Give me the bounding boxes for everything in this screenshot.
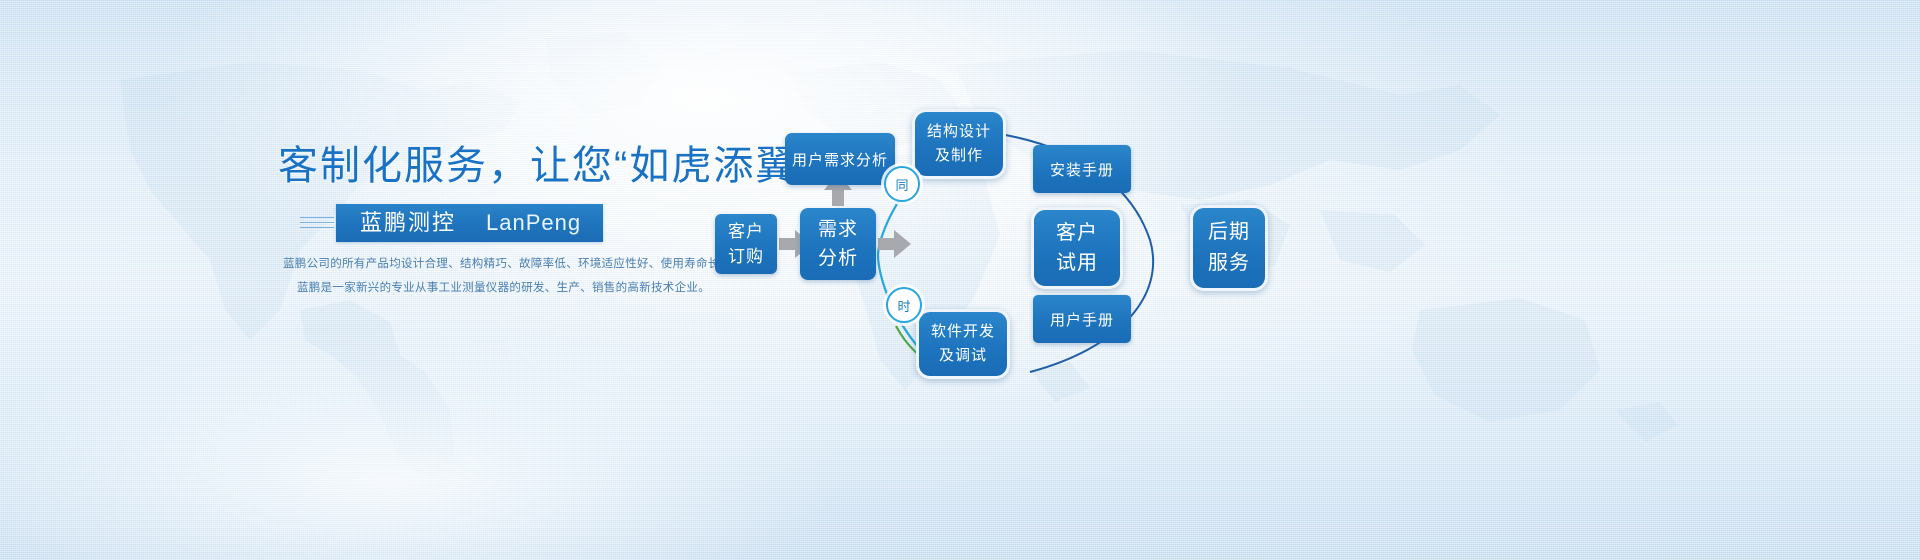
description-line-1: 蓝鹏公司的所有产品均设计合理、结构精巧、故障率低、环境适应性好、使用寿命长。 [283,252,703,276]
brand-bar: 蓝鹏测控 LanPeng [336,204,603,242]
node-label-line1: 需求 [818,215,858,244]
badge-shi: 时 [886,287,922,323]
node-label-line1: 客户 [1056,218,1098,248]
node-label-line2: 及调试 [931,344,995,368]
node-label-line1: 客户 [728,219,764,244]
badge-label: 时 [897,296,910,315]
flow-node-customer-trial[interactable]: 客户 试用 [1031,207,1123,289]
description-block: 蓝鹏公司的所有产品均设计合理、结构精巧、故障率低、环境适应性好、使用寿命长。 蓝… [283,252,703,300]
flow-node-after-sales-service[interactable]: 后期 服务 [1190,205,1268,291]
decorative-lines-left [300,217,334,229]
brand-name-en: LanPeng [486,204,581,242]
flow-node-requirement-analysis[interactable]: 需求 分析 [800,208,876,280]
description-line-2: 蓝鹏是一家新兴的专业从事工业测量仪器的研发、生产、销售的高新技术企业。 [297,276,703,300]
brand-name-cn: 蓝鹏测控 [360,204,456,242]
node-label-line1: 后期 [1208,217,1250,248]
flow-node-user-manual[interactable]: 用户手册 [1033,295,1131,343]
node-label-line2: 试用 [1056,248,1098,278]
node-label-line2: 服务 [1208,248,1250,279]
node-label-line2: 及制作 [927,144,991,168]
flow-node-structural-design[interactable]: 结构设计 及制作 [912,109,1006,179]
node-label: 安装手册 [1050,159,1114,180]
node-label: 用户手册 [1050,309,1114,330]
flow-node-user-requirement-analysis[interactable]: 用户需求分析 [785,133,895,185]
flow-node-installation-manual[interactable]: 安装手册 [1033,145,1131,193]
flow-node-software-development[interactable]: 软件开发 及调试 [916,309,1010,379]
node-label-line2: 订购 [728,244,764,269]
banner-root: 客制化服务，让您“如虎添翼” 蓝鹏测控 LanPeng 蓝鹏公司的所有产品均设计… [0,0,1920,560]
node-label-line2: 分析 [818,244,858,273]
flow-node-customer-order[interactable]: 客户 订购 [715,214,777,274]
badge-tong: 同 [884,166,920,202]
node-label-line1: 结构设计 [927,120,991,144]
badge-label: 同 [895,175,908,194]
process-flow-diagram: 用户需求分析 客户 订购 需求 分析 结构设计 及制作 软件开发 及调试 [700,90,1920,420]
node-label-line1: 软件开发 [931,320,995,344]
node-label: 用户需求分析 [792,149,888,170]
